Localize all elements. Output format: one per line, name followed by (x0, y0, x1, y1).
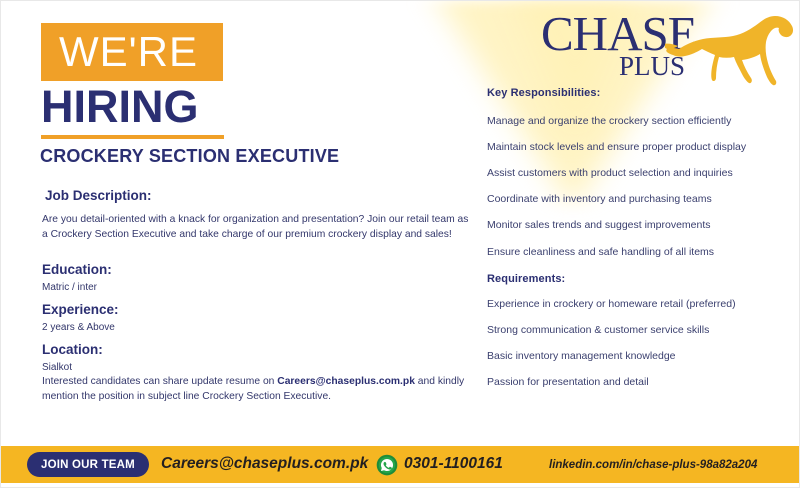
education-heading: Education: (42, 262, 112, 277)
application-note-email: Careers@chaseplus.com.pk (277, 376, 415, 387)
responsibility-item: Maintain stock levels and ensure proper … (487, 141, 746, 153)
requirement-item: Experience in crockery or homeware retai… (487, 298, 736, 310)
responsibilities-heading: Key Responsibilities: (487, 87, 600, 99)
application-note-prefix: Interested candidates can share update r… (42, 376, 277, 387)
right-column: Key Responsibilities: Manage and organiz… (485, 1, 800, 441)
location-value: Sialkot (42, 362, 72, 373)
responsibility-item: Ensure cleanliness and safe handling of … (487, 246, 714, 258)
education-value: Matric / inter (42, 282, 97, 293)
job-description-body: Are you detail-oriented with a knack for… (42, 213, 474, 243)
footer-bar: JOIN OUR TEAM Careers@chaseplus.com.pk 0… (1, 446, 800, 483)
hiring-label: HIRING (41, 81, 199, 133)
experience-value: 2 years & Above (42, 322, 115, 333)
requirements-heading: Requirements: (487, 273, 565, 285)
experience-heading: Experience: (42, 302, 119, 317)
footer-linkedin-url[interactable]: linkedin.com/in/chase-plus-98a82a204 (549, 459, 757, 471)
responsibility-item: Monitor sales trends and suggest improve… (487, 219, 711, 231)
title-divider (41, 135, 224, 139)
were-label: WE'RE (59, 29, 198, 75)
requirement-item: Strong communication & customer service … (487, 324, 709, 336)
responsibility-item: Assist customers with product selection … (487, 167, 733, 179)
requirement-item: Passion for presentation and detail (487, 376, 649, 388)
requirement-item: Basic inventory management knowledge (487, 350, 676, 362)
join-our-team-button[interactable]: JOIN OUR TEAM (27, 452, 149, 477)
responsibility-item: Coordinate with inventory and purchasing… (487, 193, 712, 205)
job-description-heading: Job Description: (45, 188, 152, 203)
job-posting-poster: WE'RE HIRING CROCKERY SECTION EXECUTIVE … (0, 0, 800, 488)
whatsapp-icon[interactable] (376, 454, 398, 476)
were-banner: WE'RE (41, 23, 223, 81)
page-title: CROCKERY SECTION EXECUTIVE (40, 146, 339, 167)
application-note: Interested candidates can share update r… (42, 375, 478, 405)
location-heading: Location: (42, 342, 103, 357)
footer-email[interactable]: Careers@chaseplus.com.pk (161, 455, 368, 473)
left-column: WE'RE HIRING CROCKERY SECTION EXECUTIVE … (1, 1, 481, 441)
responsibility-item: Manage and organize the crockery section… (487, 115, 731, 127)
footer-phone[interactable]: 0301-1100161 (404, 455, 503, 473)
